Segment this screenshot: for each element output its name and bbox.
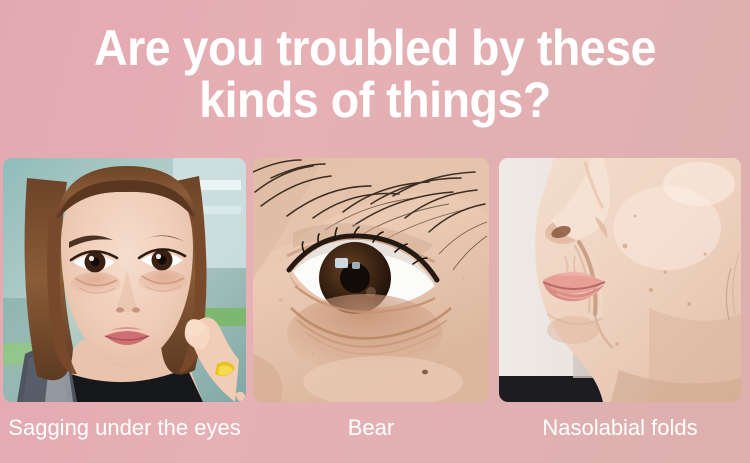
caption-eye-bags: Bear	[253, 414, 489, 442]
photo-gallery	[0, 158, 750, 402]
photo-nasolabial-folds[interactable]	[499, 158, 741, 402]
page-title: Are you troubled by these kinds of thing…	[26, 22, 724, 126]
caption-nasolabial-folds: Nasolabial folds	[499, 414, 741, 442]
photo-sagging-under-eyes[interactable]	[3, 158, 246, 402]
photo-eye-bags-image	[253, 158, 489, 402]
page-title-line-1: Are you troubled by these	[26, 22, 724, 74]
page-title-line-2: kinds of things?	[26, 74, 724, 126]
caption-sagging-under-eyes: Sagging under the eyes	[3, 414, 246, 442]
photo-nasolabial-folds-image	[499, 158, 741, 402]
photo-eye-bags[interactable]	[253, 158, 489, 402]
promo-poster: Are you troubled by these kinds of thing…	[0, 0, 750, 463]
photo-sagging-under-eyes-image	[3, 158, 246, 402]
